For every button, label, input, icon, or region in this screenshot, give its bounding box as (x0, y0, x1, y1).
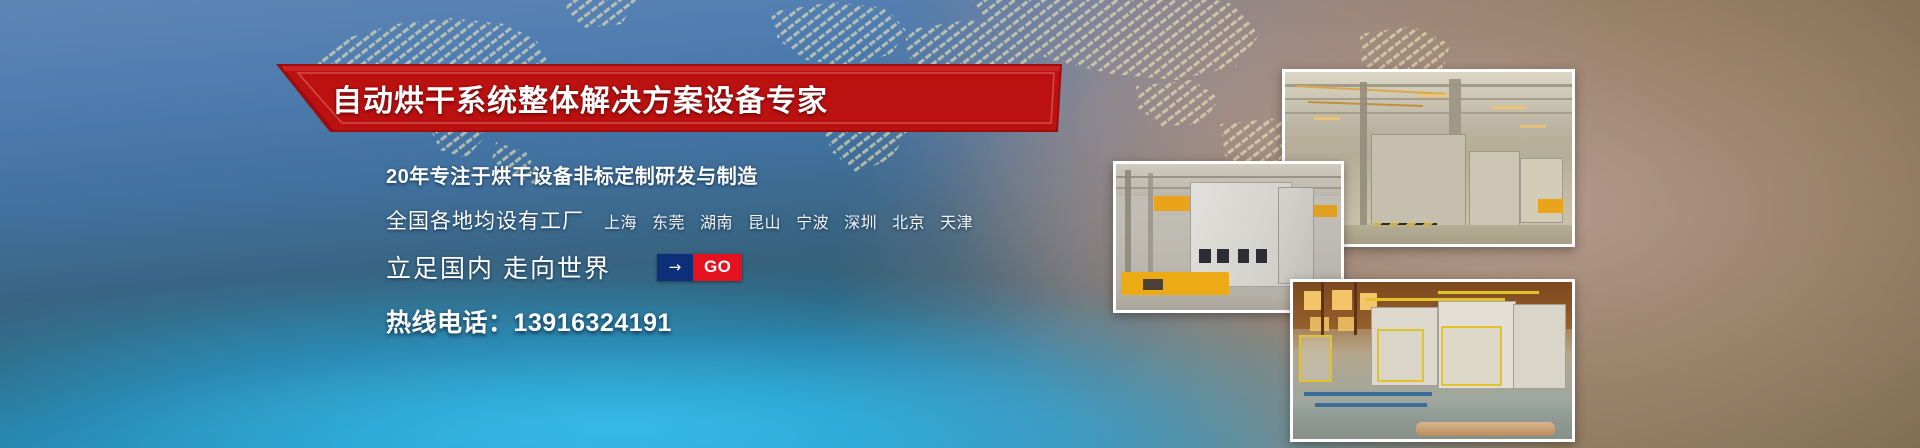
headline-ribbon: 自动烘干系统整体解决方案设备专家 (272, 62, 1062, 134)
city-item: 昆山 (748, 209, 781, 233)
city-item: 宁波 (796, 209, 829, 233)
subheadline-text: 20年专注于烘干设备非标定制研发与制造 (386, 160, 1146, 189)
city-item: 湖南 (700, 209, 733, 233)
city-item: 北京 (892, 209, 925, 233)
go-button[interactable]: → GO (657, 254, 742, 281)
factory-lead-text: 全国各地均设有工厂 (386, 205, 584, 235)
city-item: 东莞 (652, 209, 685, 233)
city-item: 天津 (940, 209, 973, 233)
copy-block: 20年专注于烘干设备非标定制研发与制造 全国各地均设有工厂 上海 东莞 湖南 昆… (386, 160, 1146, 339)
slogan-row: 立足国内 走向世界 → GO (386, 249, 1146, 285)
city-item: 上海 (604, 209, 637, 233)
arrow-right-icon: → (657, 254, 693, 281)
factory-coverage-row: 全国各地均设有工厂 上海 东莞 湖南 昆山 宁波 深圳 北京 天津 (386, 205, 1146, 235)
headline-text: 自动烘干系统整体解决方案设备专家 (272, 62, 1062, 134)
hotline-text: 热线电话：13916324191 (386, 303, 1146, 339)
go-button-label: GO (693, 254, 742, 281)
city-item: 深圳 (844, 209, 877, 233)
promo-banner: 自动烘干系统整体解决方案设备专家 20年专注于烘干设备非标定制研发与制造 全国各… (0, 0, 1920, 448)
oven-line-photo (1290, 279, 1575, 442)
city-list: 上海 东莞 湖南 昆山 宁波 深圳 北京 天津 (604, 209, 973, 233)
slogan-text: 立足国内 走向世界 (386, 249, 611, 285)
